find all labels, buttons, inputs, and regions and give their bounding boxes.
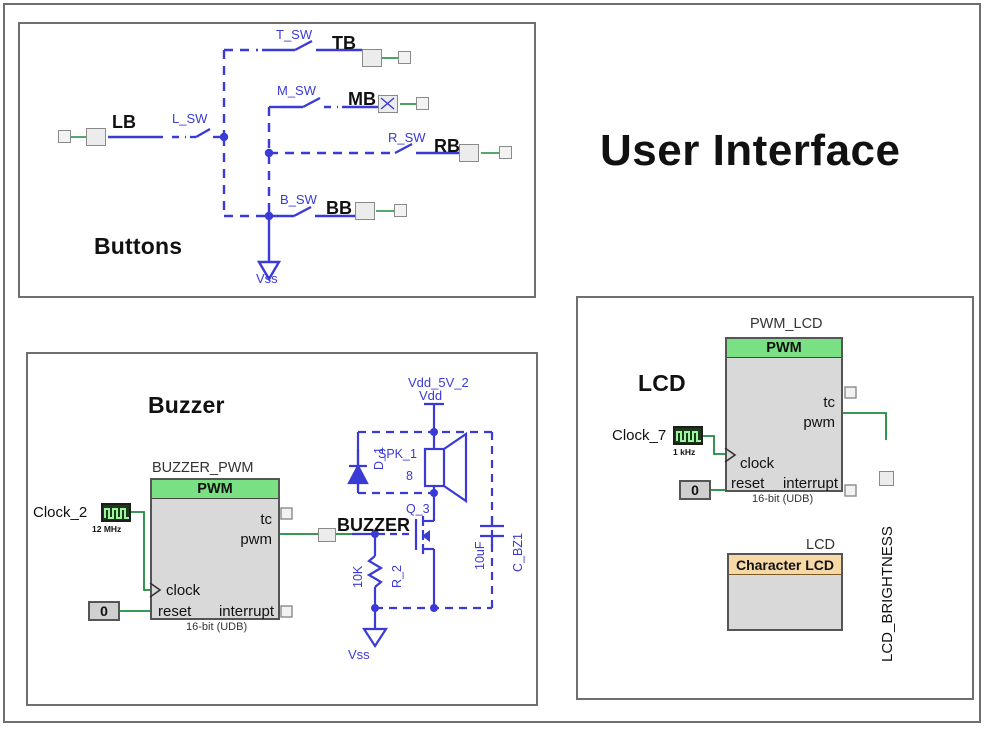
lcd-clock-freq: 1 kHz	[673, 448, 695, 457]
buzzer-pwm-pin-tc: tc	[260, 512, 272, 527]
part-ref-r2: R_2	[391, 565, 404, 588]
pullup-resistor-rb[interactable]	[459, 144, 479, 162]
character-lcd-block[interactable]: Character LCD	[727, 553, 843, 631]
lcd-pwm-footer: 16-bit (UDB)	[752, 494, 813, 505]
lcd-pwm-header: PWM	[727, 339, 841, 358]
port-pin-tb[interactable]	[398, 51, 411, 64]
port-pin-mb[interactable]	[416, 97, 429, 110]
lcd-pwm-instance-name: PWM_LCD	[750, 317, 823, 332]
pullup-resistor-lb[interactable]	[86, 128, 106, 146]
signal-label-l-sw: L_SW	[172, 112, 207, 125]
buzzer-pwm-pin-clock: clock	[166, 583, 200, 598]
buzzer-pwm-instance-name: BUZZER_PWM	[152, 461, 254, 476]
x-icon	[379, 96, 396, 111]
lcd-brightness-pin[interactable]	[879, 471, 894, 486]
buzzer-clock-name: Clock_2	[33, 505, 87, 520]
lcd-pwm-pin-pwm: pwm	[803, 415, 835, 430]
part-value-spk1: 8	[406, 470, 413, 483]
buzzer-pwm-pin-interrupt: interrupt	[219, 604, 274, 619]
buzzer-pwm-header: PWM	[152, 480, 278, 499]
net-label-rb: RB	[434, 137, 460, 155]
pullup-resistor-bb[interactable]	[355, 202, 375, 220]
port-pin-lb[interactable]	[58, 130, 71, 143]
lcd-pwm-pin-clock: clock	[740, 456, 774, 471]
buzzer-pwm-footer: 16-bit (UDB)	[186, 622, 247, 633]
lcd-block-instance-name: LCD	[806, 538, 835, 553]
part-value-r2: 10K	[352, 566, 365, 588]
lcd-pwm-block[interactable]: PWM tc pwm clock reset interrupt	[725, 337, 843, 492]
buzzer-output-pin[interactable]	[318, 528, 336, 542]
signal-label-t-sw: T_SW	[276, 28, 312, 41]
net-label-tb: TB	[332, 34, 356, 52]
lcd-pwm-pin-interrupt: interrupt	[783, 476, 838, 491]
net-label-mb: MB	[348, 90, 376, 108]
part-value-cbz1: 10uF	[474, 542, 487, 571]
pullup-resistor-mb[interactable]	[378, 95, 398, 113]
buzzer-pwm-pin-pwm: pwm	[240, 532, 272, 547]
buzzer-reset-constant[interactable]: 0	[88, 601, 120, 621]
signal-label-b-sw: B_SW	[280, 193, 317, 206]
panel-title-lcd: LCD	[638, 372, 686, 395]
buzzer-clock-freq: 12 MHz	[92, 525, 121, 534]
lcd-pwm-pin-tc: tc	[823, 395, 835, 410]
part-ref-q3: Q_3	[406, 503, 430, 516]
signal-label-m-sw: M_SW	[277, 84, 316, 97]
part-ref-d1: D_1	[373, 447, 386, 470]
net-label-lb: LB	[112, 113, 136, 131]
buzzer-pwm-pin-reset: reset	[158, 604, 191, 619]
net-label-bb: BB	[326, 199, 352, 217]
schematic-canvas: User Interface	[0, 0, 990, 732]
panel-title-buzzer: Buzzer	[148, 394, 225, 417]
lcd-clock-name: Clock_7	[612, 428, 666, 443]
pullup-resistor-tb[interactable]	[362, 49, 382, 67]
buzzer-clock-icon[interactable]	[101, 503, 131, 522]
ground-label-vss-buzzer: Vss	[348, 648, 370, 661]
lcd-brightness-label: LCD_BRIGHTNESS	[880, 526, 895, 662]
lcd-reset-constant[interactable]: 0	[679, 480, 711, 500]
net-label-buzzer: BUZZER	[337, 516, 410, 534]
lcd-clock-icon[interactable]	[673, 426, 703, 445]
port-pin-rb[interactable]	[499, 146, 512, 159]
port-pin-bb[interactable]	[394, 204, 407, 217]
signal-label-r-sw: R_SW	[388, 131, 426, 144]
lcd-pwm-pin-reset: reset	[731, 476, 764, 491]
panel-title-buttons: Buttons	[94, 235, 182, 258]
character-lcd-header: Character LCD	[729, 555, 841, 575]
part-ref-cbz1: C_BZ1	[512, 533, 525, 572]
buzzer-pwm-block[interactable]: PWM tc pwm clock reset interrupt	[150, 478, 280, 620]
ground-label-vss-buttons: Vss	[256, 272, 278, 285]
page-title: User Interface	[600, 126, 900, 176]
power-label-vdd: Vdd	[419, 389, 442, 402]
